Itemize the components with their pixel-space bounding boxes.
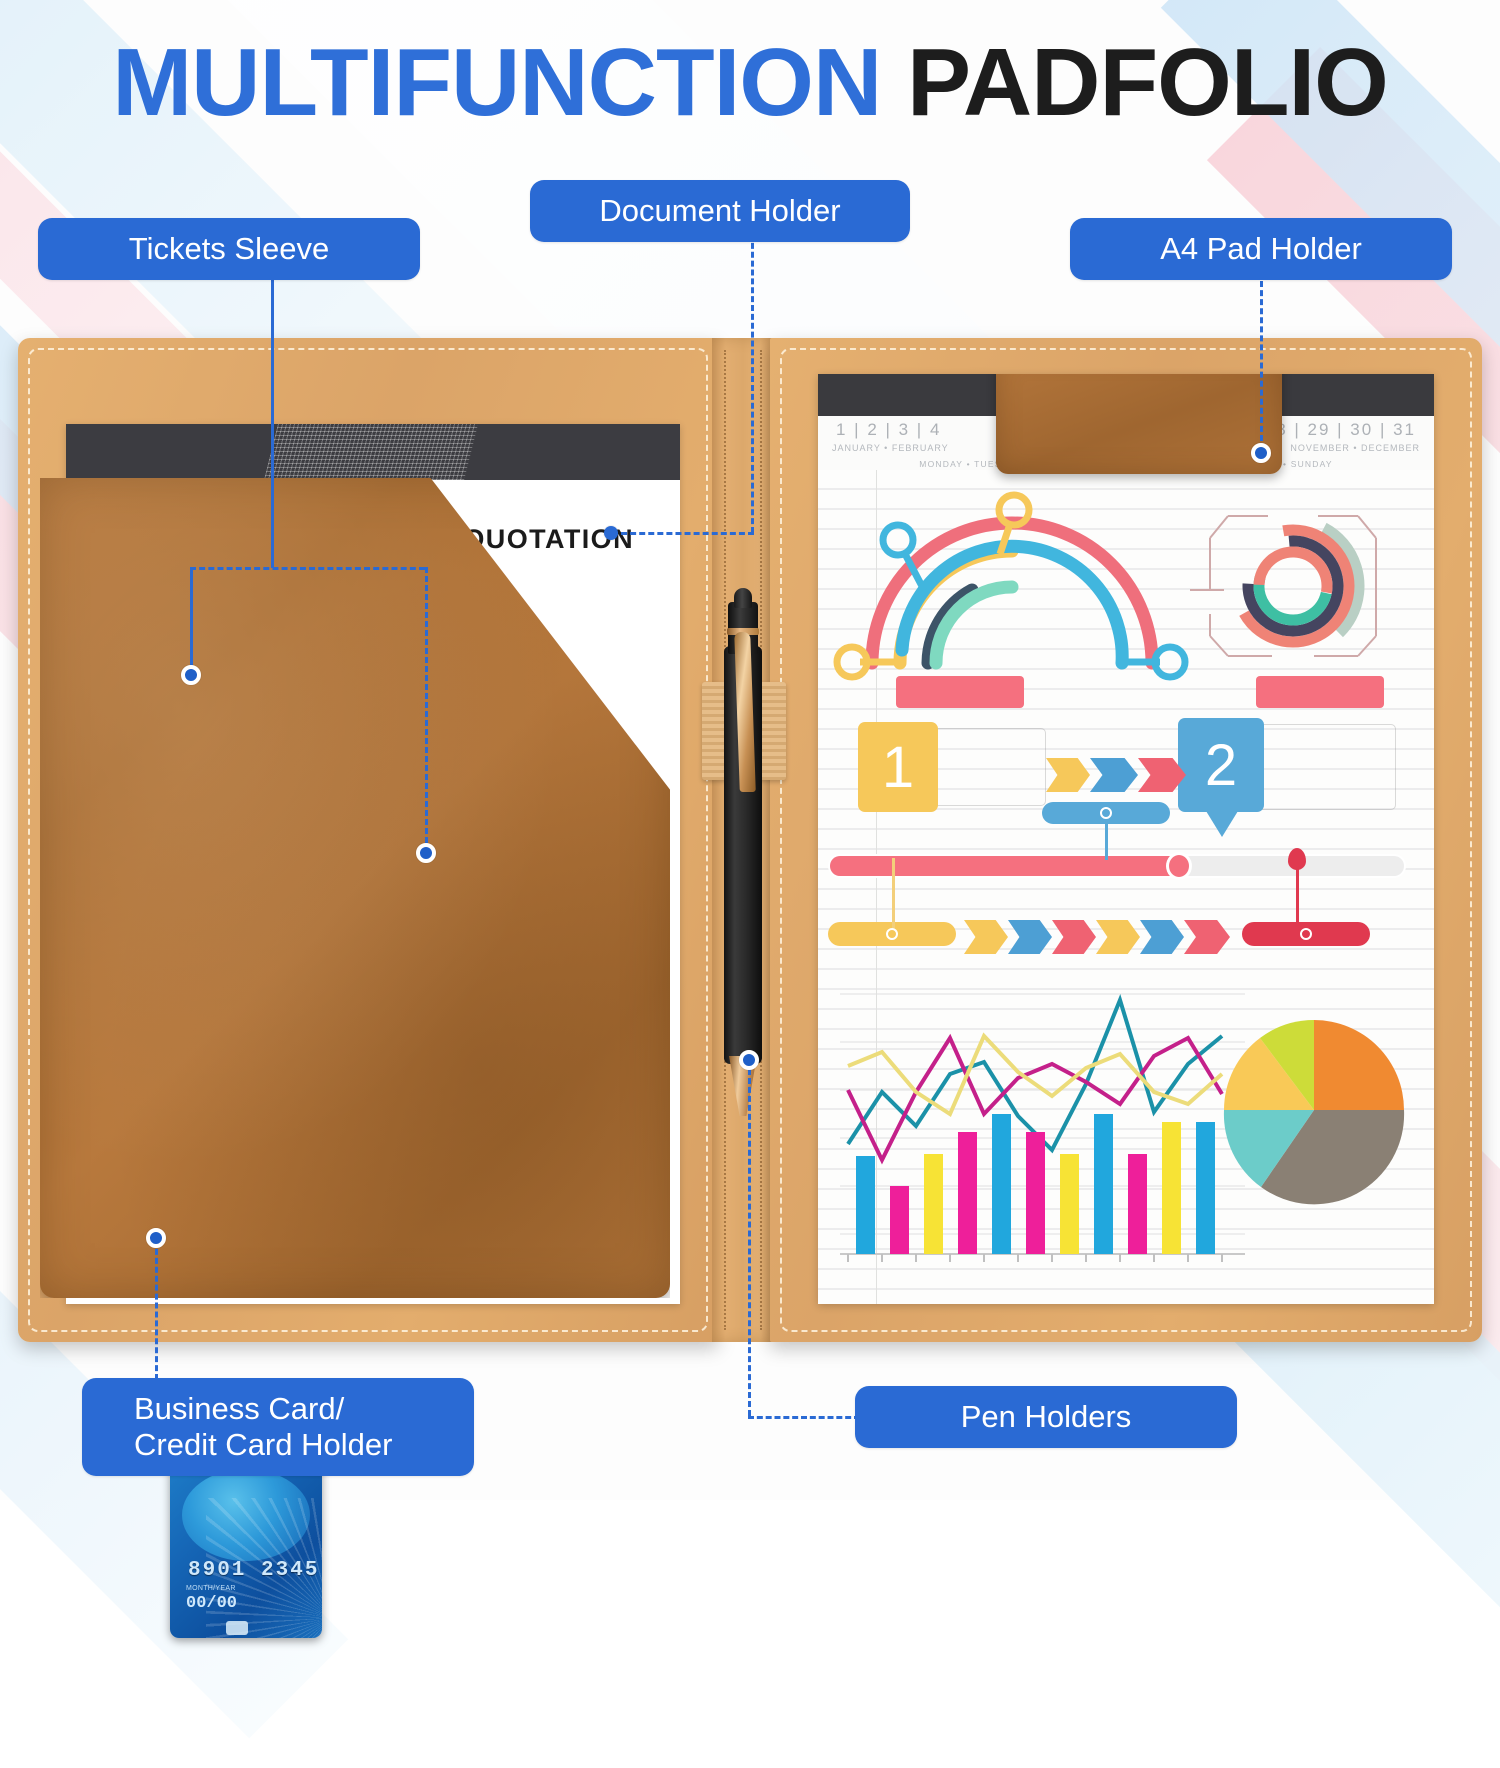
pen[interactable] bbox=[724, 586, 768, 1126]
quotation-header-mesh bbox=[264, 424, 478, 480]
leader-business-card-v bbox=[155, 1240, 158, 1380]
padfolio-left-cover: YOUR COMPANY QUOTATION Company Address D… bbox=[18, 338, 718, 1342]
callout-document-holder[interactable]: Document Holder bbox=[530, 180, 910, 242]
card-chip-icon bbox=[226, 1621, 248, 1635]
callout-one-number: 1 bbox=[858, 722, 938, 812]
calendar-numbers-left: 1 | 2 | 3 | 4 bbox=[836, 420, 941, 440]
marker-stem-yellow bbox=[892, 858, 895, 930]
slider-blue-knob bbox=[1100, 807, 1112, 819]
calendar-months-left: JANUARY • FEBRUARY bbox=[832, 443, 949, 453]
donut-ring-chart bbox=[1168, 486, 1418, 686]
leader-pen-holders-h bbox=[748, 1416, 860, 1419]
leader-a4-pad-holder-v bbox=[1260, 272, 1263, 450]
leader-pen-holders-v bbox=[748, 1060, 751, 1416]
padfolio-right-cover: 1 | 2 | 3 | 4 28 | 29 | 30 | 31 JANUARY … bbox=[770, 338, 1482, 1342]
bar-line-chart bbox=[830, 964, 1250, 1284]
leader-tickets-sleeve-h bbox=[190, 567, 425, 570]
dot-tickets-sleeve-bottom bbox=[416, 843, 436, 863]
quotation-subline-2 bbox=[631, 586, 634, 598]
page-title-highlight: MULTIFUNCTION bbox=[112, 29, 881, 136]
callout-business-card-holder[interactable]: Business Card/ Credit Card Holder bbox=[82, 1378, 474, 1476]
calendar-numbers-right: 28 | 29 | 30 | 31 bbox=[1265, 420, 1416, 440]
arc-gauge-chart bbox=[832, 478, 1192, 688]
marker-dot-red bbox=[1288, 848, 1306, 870]
dot-business-card bbox=[146, 1228, 166, 1248]
card-expiry-label: MONTH/YEAR bbox=[186, 1585, 236, 1592]
quotation-header-bar bbox=[66, 424, 680, 480]
slider-blue-stem bbox=[1105, 822, 1108, 860]
leader-tickets-sleeve-v1 bbox=[271, 272, 274, 568]
progress-handle bbox=[1166, 852, 1192, 880]
callout-tickets-sleeve[interactable]: Tickets Sleeve bbox=[38, 218, 420, 280]
card-expiry-value: 00/00 bbox=[186, 1594, 237, 1613]
page-title: MULTIFUNCTION PADFOLIO bbox=[0, 28, 1500, 138]
dot-pen-holders bbox=[739, 1050, 759, 1070]
callout-two-number: 2 bbox=[1178, 718, 1264, 812]
callout-a4-pad-holder[interactable]: A4 Pad Holder bbox=[1070, 218, 1452, 280]
leader-document-holder-h bbox=[612, 532, 754, 535]
calendar-months-right: NOVEMBER • DECEMBER bbox=[1290, 443, 1420, 453]
page-title-rest: PADFOLIO bbox=[881, 29, 1388, 136]
card-number: 8901 2345 bbox=[188, 1559, 319, 1582]
pen-push-knob bbox=[734, 588, 752, 608]
bottom-bar-red-knob bbox=[1300, 928, 1312, 940]
dot-a4-pad-holder bbox=[1251, 443, 1271, 463]
dot-document-holder bbox=[604, 526, 618, 540]
a4-pad-holder-clip[interactable] bbox=[996, 374, 1282, 474]
leader-document-holder-v bbox=[751, 234, 754, 533]
dot-tickets-sleeve-top bbox=[181, 665, 201, 685]
leader-tickets-sleeve-v3 bbox=[425, 567, 428, 852]
bottom-bar-yellow-knob bbox=[886, 928, 898, 940]
leader-tickets-sleeve-v2 bbox=[190, 567, 193, 674]
a4-notepad: 1 | 2 | 3 | 4 28 | 29 | 30 | 31 JANUARY … bbox=[818, 374, 1434, 1304]
callout-pen-holders[interactable]: Pen Holders bbox=[855, 1386, 1237, 1448]
credit-card[interactable]: 8901 2345 MONTH/YEAR 00/00 bbox=[170, 1453, 322, 1638]
quotation-subline-1 bbox=[631, 566, 634, 578]
pie-chart bbox=[1214, 1010, 1414, 1210]
progress-fill bbox=[830, 856, 1186, 876]
